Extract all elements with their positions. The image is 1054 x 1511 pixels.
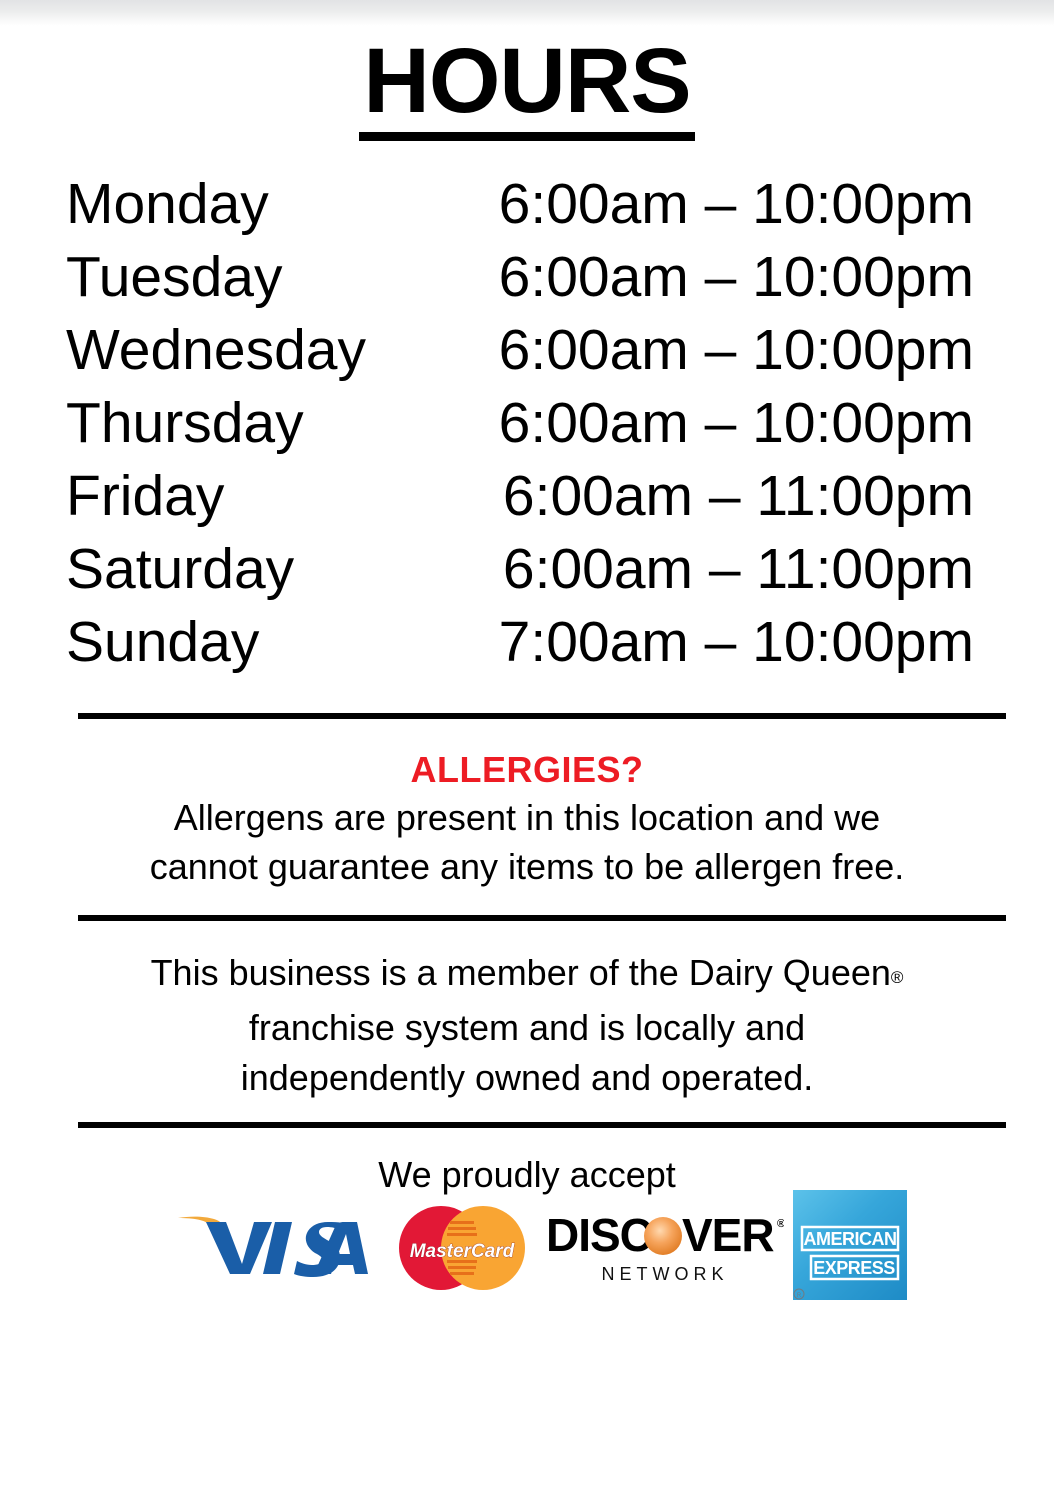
franchise-line-1: This business is a member of the Dairy Q…	[60, 948, 994, 1003]
hours-value: 6:00am – 11:00pm	[503, 533, 974, 606]
hours-value: 6:00am – 11:00pm	[503, 460, 974, 533]
hours-value: 6:00am – 10:00pm	[499, 241, 974, 314]
table-row: Thursday 6:00am – 10:00pm	[66, 387, 974, 460]
svg-text:R: R	[797, 1293, 802, 1299]
svg-text:EXPRESS: EXPRESS	[813, 1258, 895, 1278]
svg-text:VER: VER	[682, 1210, 774, 1261]
svg-text:DISC: DISC	[546, 1210, 652, 1261]
day-label: Thursday	[66, 387, 304, 460]
hours-value: 6:00am – 10:00pm	[499, 314, 974, 387]
discover-icon: DISC VER ® NETWORK	[546, 1210, 784, 1286]
table-row: Tuesday 6:00am – 10:00pm	[66, 241, 974, 314]
day-label: Wednesday	[66, 314, 366, 387]
svg-text:®: ®	[777, 1218, 784, 1230]
table-row: Sunday 7:00am – 10:00pm	[66, 606, 974, 679]
hours-value: 6:00am – 10:00pm	[499, 387, 974, 460]
american-express-icon: AMERICAN EXPRESS R	[789, 1186, 911, 1304]
page-title-container: HOURS	[0, 36, 1054, 141]
allergies-line-2: cannot guarantee any items to be allerge…	[60, 842, 994, 891]
franchise-line-1-text: This business is a member of the Dairy Q…	[151, 952, 891, 993]
hours-value: 7:00am – 10:00pm	[499, 606, 974, 679]
svg-text:NETWORK: NETWORK	[602, 1264, 729, 1284]
day-label: Tuesday	[66, 241, 283, 314]
registered-trademark-icon: ®	[891, 968, 904, 987]
page-title: HOURS	[359, 36, 694, 141]
day-label: Sunday	[66, 606, 259, 679]
mastercard-icon: MasterCard	[394, 1205, 530, 1291]
allergies-section: ALLERGIES? Allergens are present in this…	[60, 747, 994, 891]
payment-logos: MasterCard DISC VER ® NETWORK	[0, 1190, 1054, 1310]
day-label: Saturday	[66, 533, 294, 606]
day-label: Monday	[66, 168, 269, 241]
table-row: Wednesday 6:00am – 10:00pm	[66, 314, 974, 387]
visa-icon	[176, 1212, 368, 1278]
svg-text:AMERICAN: AMERICAN	[804, 1229, 897, 1249]
day-label: Friday	[66, 460, 224, 533]
table-row: Monday 6:00am – 10:00pm	[66, 168, 974, 241]
franchise-line-2: franchise system and is locally and	[60, 1003, 994, 1053]
franchise-disclaimer: This business is a member of the Dairy Q…	[60, 948, 994, 1103]
svg-text:MasterCard: MasterCard	[410, 1241, 515, 1262]
hours-value: 6:00am – 10:00pm	[499, 168, 974, 241]
divider	[78, 713, 1006, 719]
table-row: Saturday 6:00am – 11:00pm	[66, 533, 974, 606]
hours-table: Monday 6:00am – 10:00pm Tuesday 6:00am –…	[66, 168, 974, 679]
franchise-line-3: independently owned and operated.	[60, 1053, 994, 1103]
divider	[78, 1122, 1006, 1128]
allergies-heading: ALLERGIES?	[60, 747, 994, 793]
allergies-line-1: Allergens are present in this location a…	[60, 793, 994, 842]
hours-sign: HOURS Monday 6:00am – 10:00pm Tuesday 6:…	[0, 0, 1054, 1511]
divider	[78, 915, 1006, 921]
table-row: Friday 6:00am – 11:00pm	[66, 460, 974, 533]
